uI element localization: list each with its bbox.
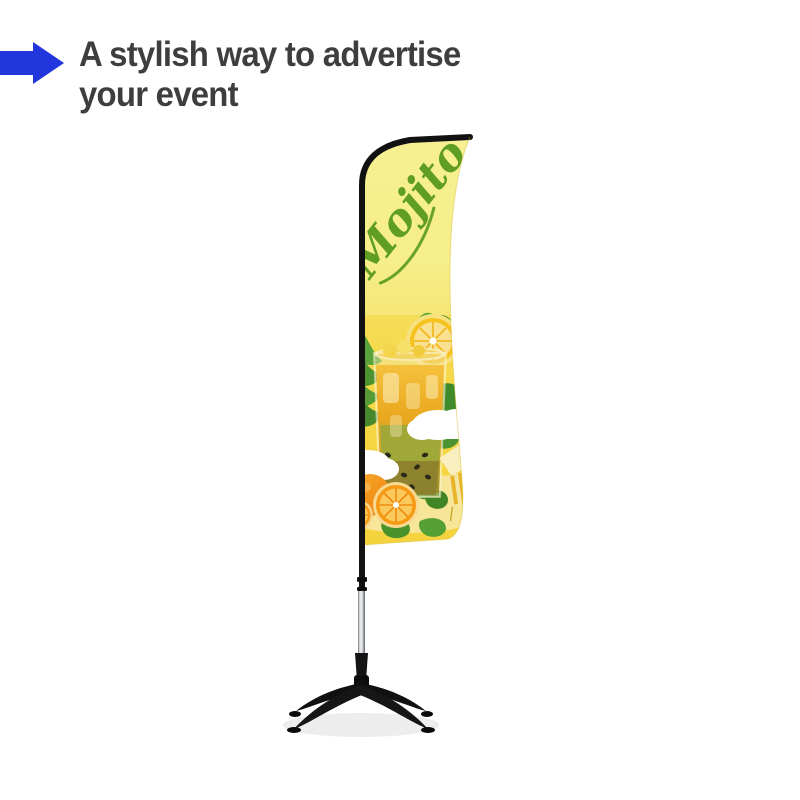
headline-banner: A stylish way to advertise your event	[0, 30, 620, 130]
cross-base	[283, 653, 439, 737]
flag-fabric: Mojito	[324, 125, 496, 555]
arrow-right-icon	[0, 42, 64, 84]
base-foot-1	[289, 711, 301, 717]
product-image-canvas: A stylish way to advertise your event	[0, 0, 800, 800]
feather-flag-product: Mojito	[270, 125, 540, 740]
page-title: A stylish way to advertise your event	[79, 35, 568, 115]
pole-clip-lower	[357, 587, 367, 591]
base-foot-2	[421, 711, 433, 717]
pole-clip-upper	[357, 577, 367, 582]
base-shadow	[283, 713, 439, 737]
flag-illustration: Mojito	[270, 125, 540, 740]
